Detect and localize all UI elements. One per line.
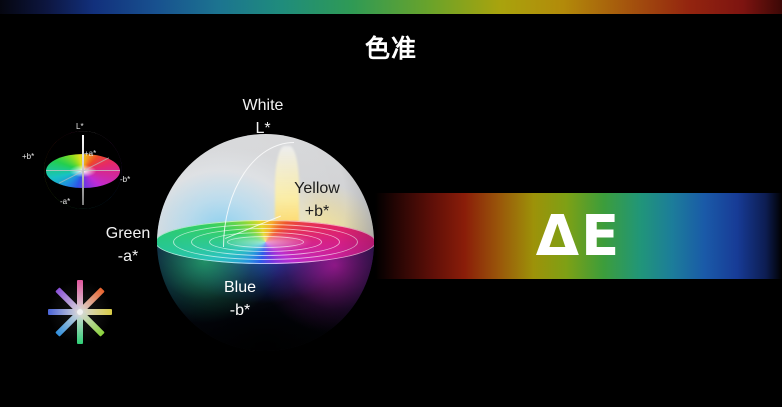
axis-label-white-line2: L* <box>213 117 313 140</box>
axis-label-green: Green -a* <box>84 222 172 268</box>
color-starburst-icon <box>44 276 116 348</box>
rainbow-gradient-strip <box>0 0 782 14</box>
page-title: 色准 <box>0 33 782 65</box>
starburst-center-dot <box>77 309 83 315</box>
color-accuracy-slide: 色准 L* +b* -b* +a* -a* <box>0 0 782 407</box>
delta-e-label: ΔE <box>375 193 782 279</box>
mini-wheel-label-minus-a: -a* <box>60 197 70 206</box>
axis-label-blue-line1: Blue <box>224 279 256 296</box>
axis-label-blue: Blue -b* <box>196 276 284 322</box>
sphere-equatorial-disc <box>157 220 374 264</box>
axis-label-green-line1: Green <box>106 225 150 242</box>
mini-wheel-label-plus-b: +b* <box>22 152 34 161</box>
axis-label-blue-line2: -b* <box>196 299 284 322</box>
lab-color-wheel-diagram: L* +b* -b* +a* -a* <box>44 131 122 209</box>
axis-label-white: White L* <box>213 94 313 140</box>
axis-label-yellow: Yellow +b* <box>275 177 359 223</box>
mini-wheel-label-plus-a: +a* <box>84 149 96 158</box>
mini-wheel-label-minus-b: -b* <box>120 175 130 184</box>
axis-label-yellow-line2: +b* <box>275 200 359 223</box>
mini-wheel-label-lightness: L* <box>76 122 84 131</box>
axis-label-white-line1: White <box>243 97 284 114</box>
axis-label-yellow-line1: Yellow <box>294 180 340 197</box>
axis-label-green-line2: -a* <box>84 245 172 268</box>
